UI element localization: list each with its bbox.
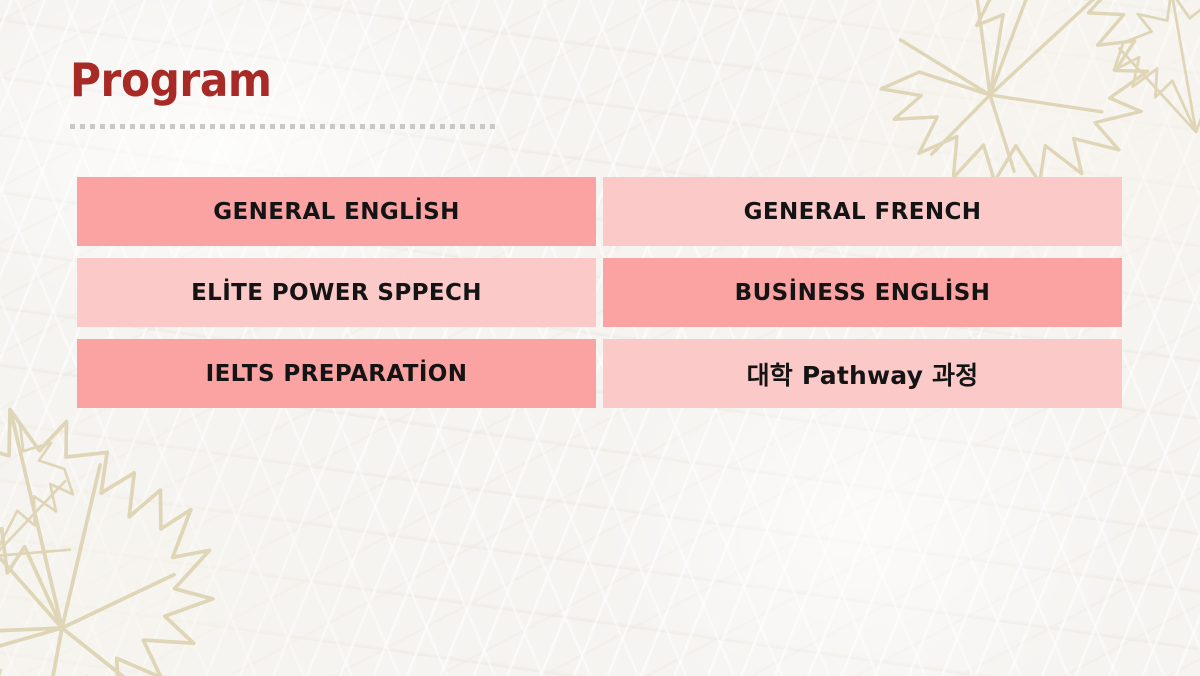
program-grid: GENERAL ENGLİSH GENERAL FRENCH ELİTE POW… — [77, 177, 1122, 408]
program-label: GENERAL FRENCH — [744, 199, 982, 225]
program-card-general-french[interactable]: GENERAL FRENCH — [603, 177, 1122, 246]
program-label: GENERAL ENGLİSH — [213, 199, 460, 225]
page-title: Program — [70, 54, 622, 106]
program-label: 대학 Pathway 과정 — [747, 356, 979, 392]
title-block: Program — [70, 54, 670, 106]
program-card-general-english[interactable]: GENERAL ENGLİSH — [77, 177, 596, 246]
program-card-ielts-preparation[interactable]: IELTS PREPARATİON — [77, 339, 596, 408]
program-card-business-english[interactable]: BUSİNESS ENGLİSH — [603, 258, 1122, 327]
program-card-elite-power-sppech[interactable]: ELİTE POWER SPPECH — [77, 258, 596, 327]
program-card-university-pathway[interactable]: 대학 Pathway 과정 — [603, 339, 1122, 408]
maple-leaf-bottom-left — [0, 367, 246, 676]
program-label: ELİTE POWER SPPECH — [191, 280, 482, 306]
program-label: BUSİNESS ENGLİSH — [735, 280, 991, 306]
maple-leaf-left-edge — [0, 423, 86, 566]
program-label: IELTS PREPARATİON — [206, 361, 468, 387]
title-divider — [70, 124, 498, 129]
slide-canvas: Program GENERAL ENGLİSH GENERAL FRENCH E… — [0, 0, 1200, 676]
maple-leaf-right-edge — [1100, 0, 1200, 146]
